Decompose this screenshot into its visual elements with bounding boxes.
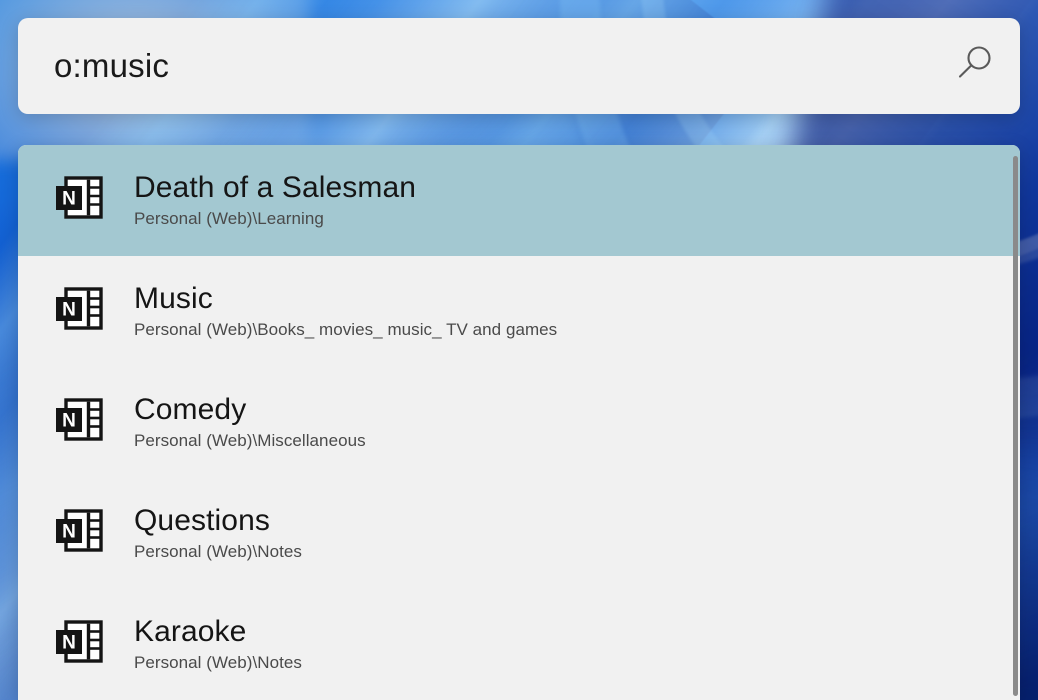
result-icon: N [42,619,114,670]
result-row[interactable]: N Karaoke Personal (Web)\Notes [18,589,1020,700]
result-row[interactable]: N Music Personal (Web)\Books_ movies_ mu… [18,256,1020,367]
search-bar[interactable]: o:music [18,18,1020,114]
results-scrollbar[interactable] [1013,152,1018,700]
result-subtitle: Personal (Web)\Notes [134,653,1020,673]
result-text: Comedy Personal (Web)\Miscellaneous [114,394,1020,451]
result-text: Karaoke Personal (Web)\Notes [114,616,1020,673]
result-title: Music [134,283,1020,315]
onenote-icon: N [54,397,104,448]
result-text: Death of a Salesman Personal (Web)\Learn… [114,172,1020,229]
onenote-icon: N [54,508,104,559]
screen-root: o:music [0,0,1038,700]
results-scrollbar-thumb[interactable] [1013,156,1018,696]
result-subtitle: Personal (Web)\Books_ movies_ music_ TV … [134,320,1020,340]
result-row[interactable]: N Questions Personal (Web)\Notes [18,478,1020,589]
search-input[interactable]: o:music [54,47,928,85]
results-list[interactable]: N Death of a Salesman Personal (Web)\Lea… [18,145,1020,700]
result-subtitle: Personal (Web)\Learning [134,209,1020,229]
result-title: Death of a Salesman [134,172,1020,204]
result-title: Comedy [134,394,1020,426]
result-icon: N [42,286,114,337]
result-icon: N [42,397,114,448]
result-title: Questions [134,505,1020,537]
result-title: Karaoke [134,616,1020,648]
svg-text:N: N [62,633,76,654]
result-text: Music Personal (Web)\Books_ movies_ musi… [114,283,1020,340]
result-subtitle: Personal (Web)\Miscellaneous [134,431,1020,451]
svg-text:N: N [62,411,76,432]
result-text: Questions Personal (Web)\Notes [114,505,1020,562]
onenote-icon: N [54,286,104,337]
onenote-icon: N [54,175,104,226]
onenote-icon: N [54,619,104,670]
result-row[interactable]: N Death of a Salesman Personal (Web)\Lea… [18,145,1020,256]
result-subtitle: Personal (Web)\Notes [134,542,1020,562]
svg-text:N: N [62,300,76,321]
result-icon: N [42,175,114,226]
search-icon-button[interactable] [928,41,1020,92]
svg-text:N: N [62,189,76,210]
result-icon: N [42,508,114,559]
svg-text:N: N [62,522,76,543]
result-row[interactable]: N Comedy Personal (Web)\Miscellaneous [18,367,1020,478]
search-icon [951,41,997,92]
